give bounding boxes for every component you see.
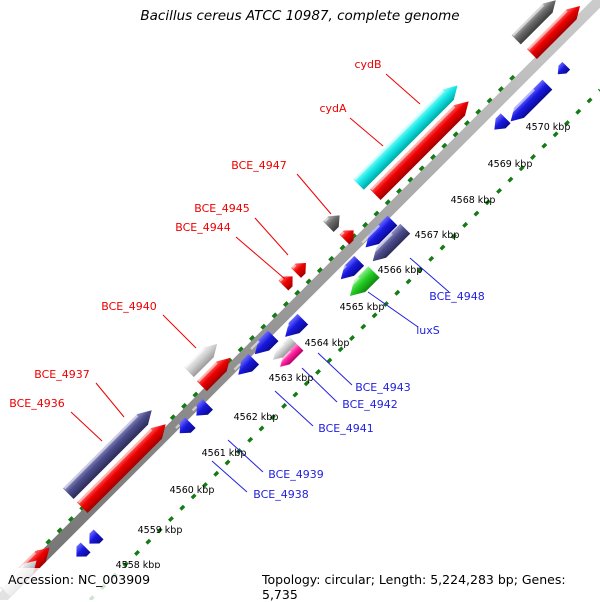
gene-feature-layer[interactable] <box>0 0 584 597</box>
ruler-tick-label: 4565 kbp <box>340 302 385 313</box>
gene-label[interactable]: BCE_4945 <box>194 202 249 215</box>
gene-label[interactable]: BCE_4941 <box>318 422 373 435</box>
ruler-tick-label: 4566 kbp <box>378 265 423 276</box>
ruler-tick-label: 4559 kbp <box>138 525 183 536</box>
gene-label[interactable]: BCE_4948 <box>429 290 484 303</box>
label-leader-line <box>71 412 102 441</box>
gene-label[interactable]: BCE_4937 <box>34 368 89 381</box>
ruler-tick-label-layer: 4558 kbp4559 kbp4560 kbp4561 kbp4562 kbp… <box>116 122 571 571</box>
gene-label[interactable]: BCE_4942 <box>342 398 397 411</box>
gene-label[interactable]: cydB <box>354 58 381 71</box>
label-leader-line <box>386 74 420 104</box>
gene-feature[interactable] <box>291 258 311 278</box>
gene-label[interactable]: BCE_4947 <box>231 159 286 172</box>
label-leader-line <box>255 218 288 255</box>
ruler-tick-label: 4560 kbp <box>170 485 215 496</box>
ruler-tick-label: 4562 kbp <box>234 412 279 423</box>
ruler-tick-label: 4569 kbp <box>488 159 533 170</box>
ruler-tick-label: 4568 kbp <box>451 195 496 206</box>
label-leader-line <box>318 353 352 385</box>
gene-label[interactable]: BCE_4943 <box>355 381 410 394</box>
gene-label[interactable]: BCE_4936 <box>9 397 64 410</box>
ruler-tick-label: 4561 kbp <box>202 448 247 459</box>
gene-feature[interactable] <box>71 542 90 561</box>
label-leader-line <box>96 383 124 417</box>
gene-feature[interactable] <box>250 331 279 360</box>
ruler-tick-label: 4570 kbp <box>526 122 571 133</box>
ruler-tick-label: 4567 kbp <box>415 230 460 241</box>
gene-feature[interactable] <box>323 210 345 232</box>
label-leader-line <box>350 118 383 146</box>
accession-text: Accession: NC_003909 <box>8 572 150 587</box>
gene-label[interactable]: BCE_4944 <box>175 221 230 234</box>
gene-feature[interactable] <box>278 271 297 290</box>
label-leader-line <box>212 461 247 492</box>
label-leader-line <box>297 174 331 214</box>
gene-feature[interactable] <box>84 529 103 548</box>
genome-map-viewer: Bacillus cereus ATCC 10987, complete gen… <box>0 0 600 600</box>
gene-label[interactable]: BCE_4940 <box>101 300 156 313</box>
gene-label[interactable]: BCE_4938 <box>253 488 308 501</box>
gene-label[interactable]: luxS <box>416 324 440 337</box>
gene-label[interactable]: cydA <box>319 102 347 115</box>
gene-label[interactable]: BCE_4939 <box>268 468 323 481</box>
ruler-tick-label: 4563 kbp <box>269 373 314 384</box>
topology-text: Topology: circular; Length: 5,224,283 bp… <box>262 572 600 602</box>
ruler-tick-label: 4564 kbp <box>305 338 350 349</box>
label-leader-line <box>163 315 196 348</box>
gene-feature[interactable] <box>554 62 570 78</box>
genome-map-canvas[interactable]: 4558 kbp4559 kbp4560 kbp4561 kbp4562 kbp… <box>0 0 600 600</box>
